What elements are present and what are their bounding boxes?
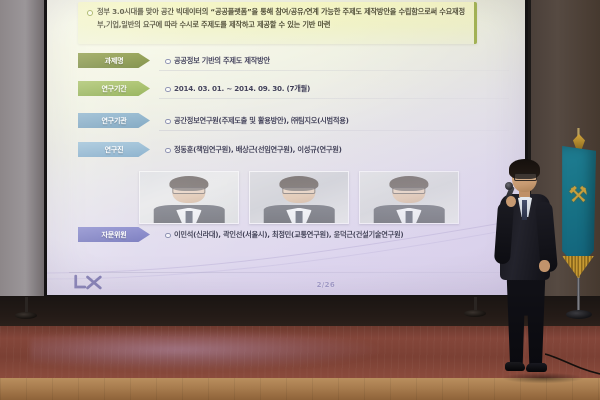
row-divider bbox=[159, 98, 509, 99]
microphone-head-icon bbox=[505, 182, 513, 190]
row-tag-period: 연구기간 bbox=[78, 81, 150, 96]
info-row-project-name: 과제명 공공정보 기반의 주제도 제작방안 bbox=[47, 53, 525, 73]
presenter bbox=[494, 162, 564, 380]
info-row-researchers: 연구진 정동훈(책임연구원), 배상근(선임연구원), 이성규(연구원) bbox=[47, 142, 525, 162]
row-value-institution: 공간정보연구원(주제도출 및 활용방안), ㈜팀지오(시범적용) bbox=[174, 114, 515, 127]
footer-divider bbox=[69, 272, 507, 273]
summary-box: 정부 3.0시대를 맞아 공간 빅데이터의 “공공플랫폼”을 통해 참여/공유/… bbox=[78, 2, 477, 44]
lx-logo bbox=[73, 274, 113, 291]
flag-stand bbox=[570, 278, 587, 320]
row-value-period: 2014. 03. 01. ~ 2014. 09. 30. (7개월) bbox=[174, 82, 515, 95]
flag-emblem-icon: ⚒ bbox=[566, 178, 590, 214]
presentation-scene: 정부 3.0시대를 맞아 공간 빅데이터의 “공공플랫폼”을 통해 참여/공유/… bbox=[0, 0, 600, 400]
circle-bullet-icon bbox=[165, 119, 171, 125]
row-tag-institution: 연구기관 bbox=[78, 113, 150, 128]
circle-bullet-icon bbox=[165, 59, 171, 65]
projection-screen: 정부 3.0시대를 맞아 공간 빅데이터의 “공공플랫폼”을 통해 참여/공유/… bbox=[47, 0, 525, 295]
ceremonial-flag: ⚒ bbox=[556, 128, 600, 318]
row-tag-researchers: 연구진 bbox=[78, 142, 150, 157]
summary-text: 정부 3.0시대를 맞아 공간 빅데이터의 “공공플랫폼”을 통해 참여/공유/… bbox=[97, 6, 465, 31]
slide-decoration-curve bbox=[47, 211, 525, 281]
row-value-project-name: 공공정보 기반의 주제도 제작방안 bbox=[174, 54, 515, 67]
circle-bullet-icon bbox=[165, 148, 171, 154]
presenter-shoe-left bbox=[505, 362, 525, 371]
circle-bullet-icon bbox=[87, 10, 93, 16]
row-divider bbox=[159, 70, 509, 71]
flag-fringe bbox=[560, 256, 596, 278]
info-row-institution: 연구기관 공간정보연구원(주제도출 및 활용방안), ㈜팀지오(시범적용) bbox=[47, 113, 525, 133]
flag-finial-icon bbox=[573, 134, 585, 150]
presenter-hand-left bbox=[506, 196, 516, 207]
row-divider bbox=[159, 130, 509, 131]
presenter-legs bbox=[505, 276, 547, 366]
page-number: 2/26 bbox=[317, 281, 335, 289]
slide-content: 정부 3.0시대를 맞아 공간 빅데이터의 “공공플랫폼”을 통해 참여/공유/… bbox=[47, 0, 525, 295]
presenter-shoe-right bbox=[526, 363, 547, 372]
left-wall bbox=[0, 0, 46, 318]
screen-stand-foot-right bbox=[464, 310, 486, 317]
stage-floor-reflection bbox=[30, 330, 400, 374]
glasses-icon bbox=[514, 173, 537, 181]
info-row-period: 연구기간 2014. 03. 01. ~ 2014. 09. 30. (7개월) bbox=[47, 81, 525, 101]
presenter-hand-right bbox=[539, 260, 550, 272]
circle-bullet-icon bbox=[165, 87, 171, 93]
row-value-researchers: 정동훈(책임연구원), 배상근(선임연구원), 이성규(연구원) bbox=[174, 143, 515, 156]
presenter-tie bbox=[522, 200, 527, 220]
floor-cable bbox=[545, 352, 600, 378]
screen-stand-foot-left bbox=[15, 312, 37, 319]
row-tag-project-name: 과제명 bbox=[78, 53, 150, 68]
